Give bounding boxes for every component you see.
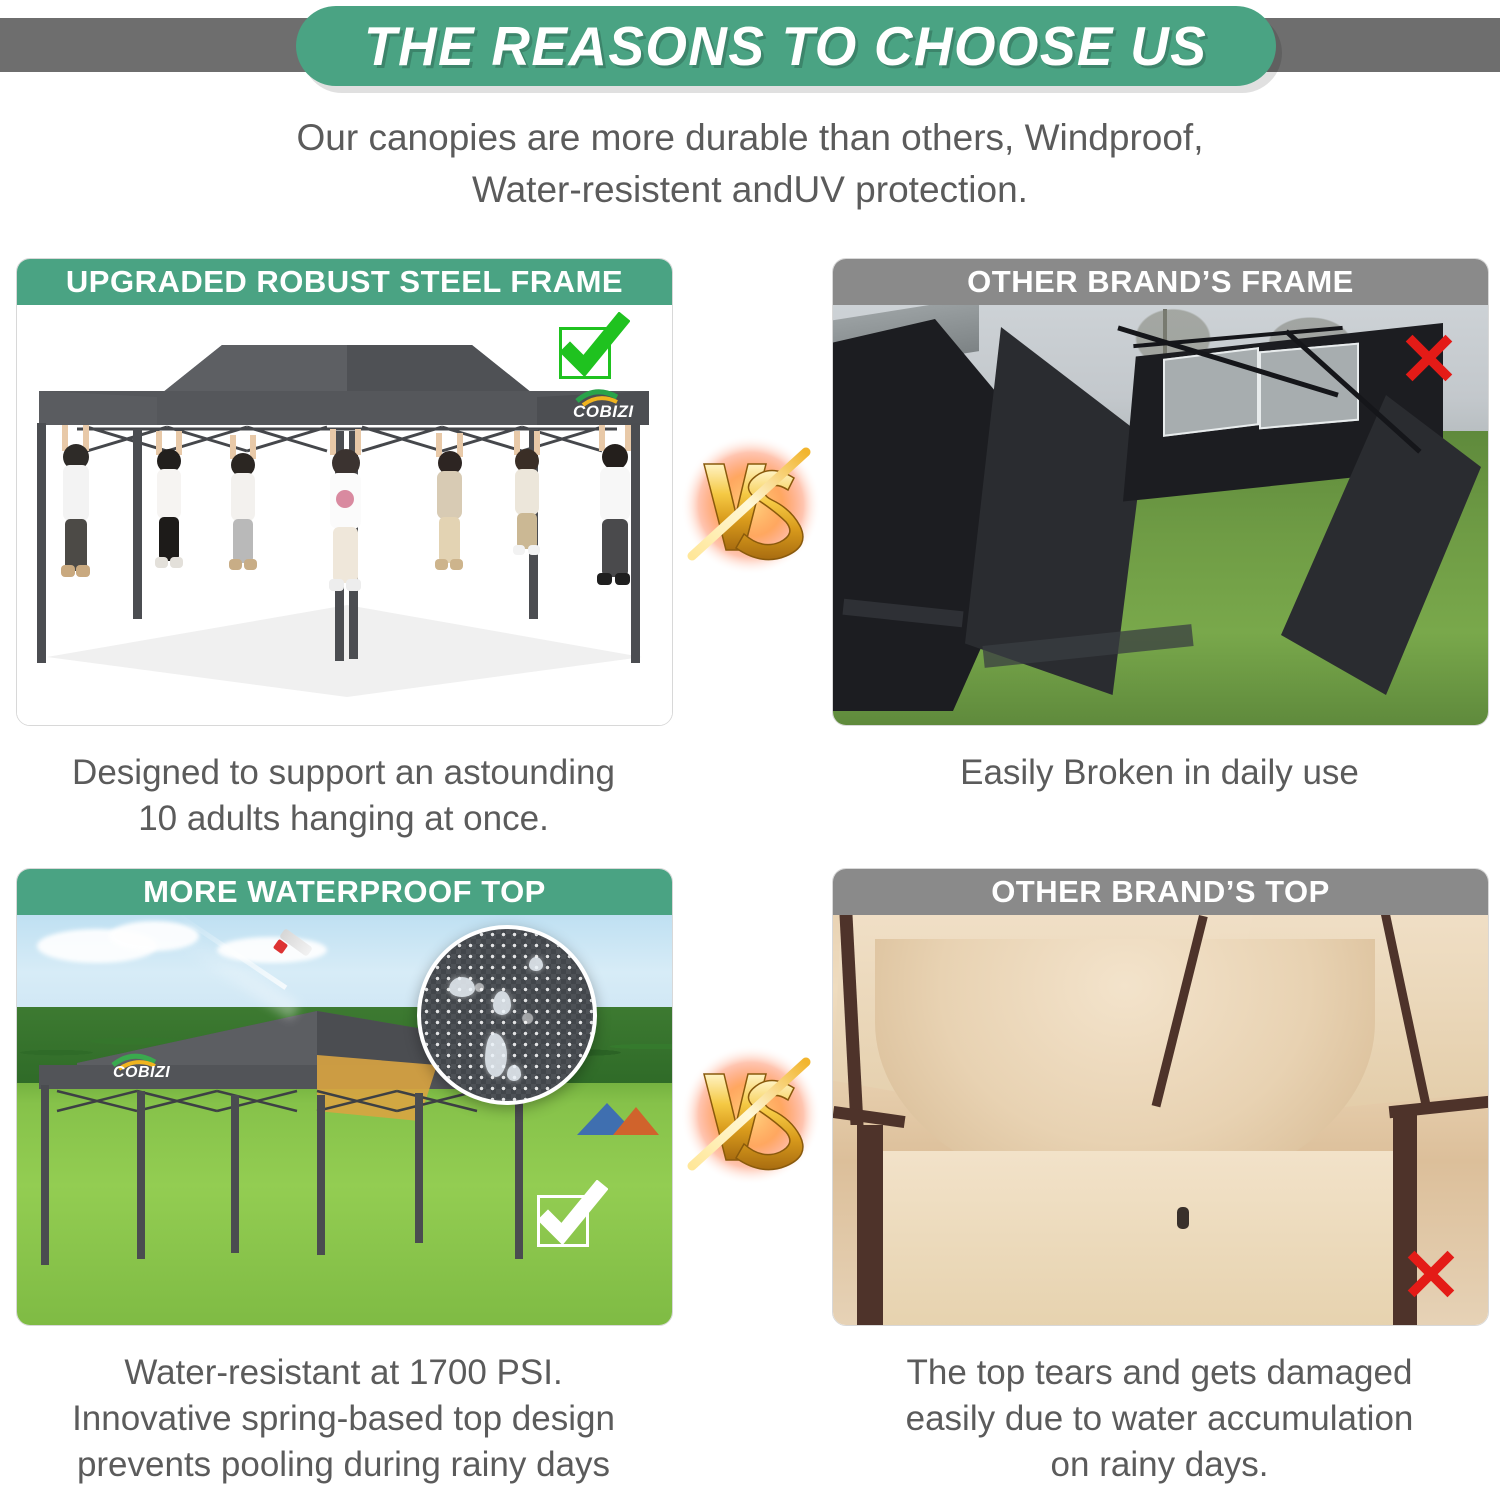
sagging-canopy-photo <box>833 915 1488 1325</box>
panel-header-label: OTHER BRAND’S TOP <box>991 874 1330 910</box>
side-curtain <box>881 1151 1401 1325</box>
panel-header-good: MORE WATERPROOF TOP <box>17 869 672 915</box>
caption-line-3: prevents pooling during rainy days <box>16 1442 671 1488</box>
caption-line-1: Designed to support an astounding <box>16 750 671 796</box>
panel-caption: Water-resistant at 1700 PSI. Innovative … <box>16 1350 671 1488</box>
caption-line-3: on rainy days. <box>832 1442 1487 1488</box>
corner-post <box>857 1125 883 1325</box>
panel-image-steel-frame: COBIZI <box>17 305 672 725</box>
caption-line-2: easily due to water accumulation <box>832 1396 1487 1442</box>
page-header: THE REASONS TO CHOOSE US <box>0 0 1500 100</box>
panel-card: UPGRADED ROBUST STEEL FRAME <box>16 258 673 726</box>
check-tick <box>556 312 630 386</box>
panel-header-bad: OTHER BRAND’S TOP <box>833 869 1488 915</box>
comparison-grid: UPGRADED ROBUST STEEL FRAME <box>0 248 1500 1461</box>
subtitle-line-1: Our canopies are more durable than other… <box>120 112 1380 164</box>
subtitle: Our canopies are more durable than other… <box>0 112 1500 216</box>
x-icon: ✕ <box>1398 323 1460 397</box>
panel-image-waterproof: COBIZI <box>17 915 672 1325</box>
fabric-zoom-detail <box>417 925 597 1105</box>
panel-header-bad: OTHER BRAND’S FRAME <box>833 259 1488 305</box>
caption-line-1: Water-resistant at 1700 PSI. <box>16 1350 671 1396</box>
vs-badge-icon <box>676 1040 826 1190</box>
page-title: THE REASONS TO CHOOSE US <box>364 19 1207 74</box>
brand-logo-label: COBIZI <box>573 403 634 420</box>
water-droplet <box>507 1065 521 1081</box>
panel-caption: Designed to support an astounding 10 adu… <box>16 750 671 842</box>
broken-canopy-photo <box>833 305 1488 725</box>
caption-line-1: Easily Broken in daily use <box>832 750 1487 796</box>
window-pane <box>1163 347 1259 437</box>
panel-caption: The top tears and gets damaged easily du… <box>832 1350 1487 1488</box>
vs-badge-top <box>676 430 826 580</box>
vs-badge-bottom <box>676 1040 826 1190</box>
header-banner-pill: THE REASONS TO CHOOSE US <box>296 6 1276 86</box>
vs-badge-icon <box>676 430 826 580</box>
panel-caption: Easily Broken in daily use <box>832 750 1487 796</box>
water-runoff <box>485 1033 507 1077</box>
subtitle-line-2: Water-resistent andUV protection. <box>120 164 1380 216</box>
panel-header-label: UPGRADED ROBUST STEEL FRAME <box>66 264 623 300</box>
panel-header-good: UPGRADED ROBUST STEEL FRAME <box>17 259 672 305</box>
panel-header-label: OTHER BRAND’S FRAME <box>967 264 1354 300</box>
panel-image-sagging-top: ✕ <box>833 915 1488 1325</box>
caption-line-2: 10 adults hanging at once. <box>16 796 671 842</box>
hanging-people <box>61 425 631 591</box>
panel-card: OTHER BRAND’S TOP <box>832 868 1489 1326</box>
panel-header-label: MORE WATERPROOF TOP <box>143 874 546 910</box>
check-tick <box>534 1180 608 1254</box>
brand-logo-label: COBIZI <box>113 1065 170 1081</box>
fabric-toggle <box>1177 1207 1189 1229</box>
water-droplet <box>529 957 543 971</box>
panel-image-broken-frame: ✕ <box>833 305 1488 725</box>
canopy-field-photo: COBIZI <box>17 915 672 1325</box>
water-droplet <box>493 991 511 1015</box>
water-droplet <box>449 977 475 997</box>
caption-line-1: The top tears and gets damaged <box>832 1350 1487 1396</box>
caption-line-2: Innovative spring-based top design <box>16 1396 671 1442</box>
check-icon <box>537 1195 589 1247</box>
x-icon: ✕ <box>1400 1239 1462 1313</box>
panel-card: OTHER BRAND’S FRAME <box>832 258 1489 726</box>
panel-card: MORE WATERPROOF TOP <box>16 868 673 1326</box>
check-icon <box>559 327 611 379</box>
